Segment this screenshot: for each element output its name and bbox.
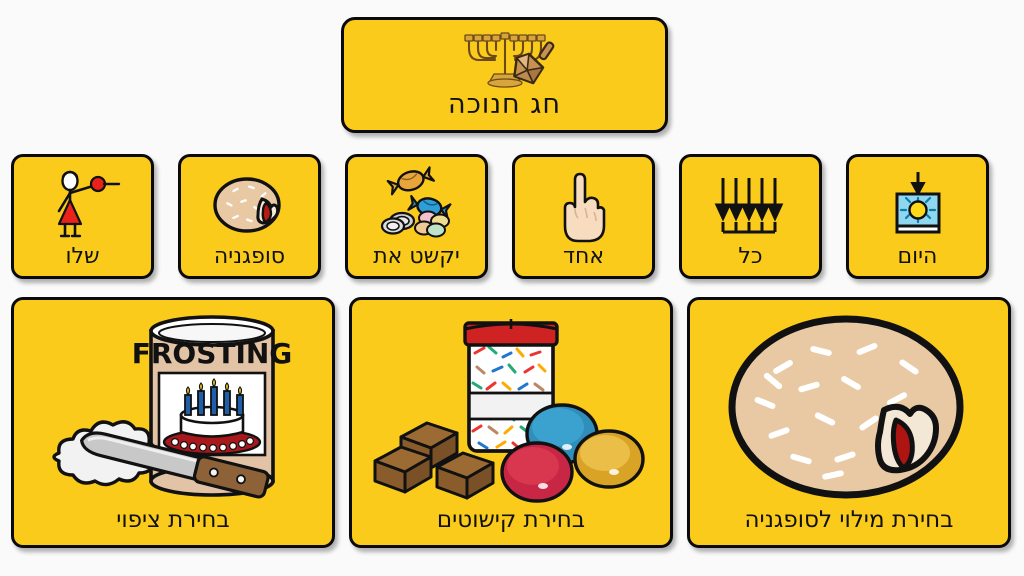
word-card-label: אחד: [515, 245, 652, 276]
word-card-yekashet-et[interactable]: יקשט את: [345, 154, 488, 279]
hand-one-finger-icon: [515, 157, 652, 245]
word-card-shelo[interactable]: שלו: [11, 154, 154, 279]
word-card-hayom[interactable]: היום: [846, 154, 989, 279]
sprinkles-candy-icon: [352, 300, 670, 508]
word-card-echad[interactable]: אחד: [512, 154, 655, 279]
word-card-label: היום: [849, 245, 986, 276]
title-card-chag-chanukah[interactable]: חג חנוכה: [341, 17, 668, 133]
person-pointing-icon: [14, 157, 151, 245]
frosting-can-text: FROSTING: [132, 337, 293, 370]
word-card-label: שלו: [14, 245, 151, 276]
communication-board: חג חנוכה שלו: [0, 0, 1024, 576]
choice-card-label: בחירת קישוטים: [352, 508, 670, 545]
candies-icon: [348, 157, 485, 245]
word-card-kol[interactable]: כל: [679, 154, 822, 279]
choice-card-label: בחירת ציפוי: [14, 508, 332, 545]
sufganiyah-icon: [181, 157, 318, 245]
choice-card-label: בחירת מילוי לסופגניה: [690, 508, 1008, 545]
frosting-can-knife-icon: FROSTING: [14, 300, 332, 508]
title-card-label: חג חנוכה: [344, 90, 665, 130]
menorah-dreidel-icon: [344, 20, 665, 90]
choice-card-bchirat-milui[interactable]: בחירת מילוי לסופגניה: [687, 297, 1011, 548]
sun-today-icon: [849, 157, 986, 245]
word-card-label: יקשט את: [348, 245, 485, 276]
choice-card-bchirat-kishutim[interactable]: בחירת קישוטים: [349, 297, 673, 548]
word-card-sufganiyah[interactable]: סופגניה: [178, 154, 321, 279]
word-card-label: סופגניה: [181, 245, 318, 276]
down-arrows-all-icon: [682, 157, 819, 245]
filled-donut-icon: [690, 300, 1008, 508]
word-card-label: כל: [682, 245, 819, 276]
choice-card-bchirat-tzipuy[interactable]: FROSTING: [11, 297, 335, 548]
